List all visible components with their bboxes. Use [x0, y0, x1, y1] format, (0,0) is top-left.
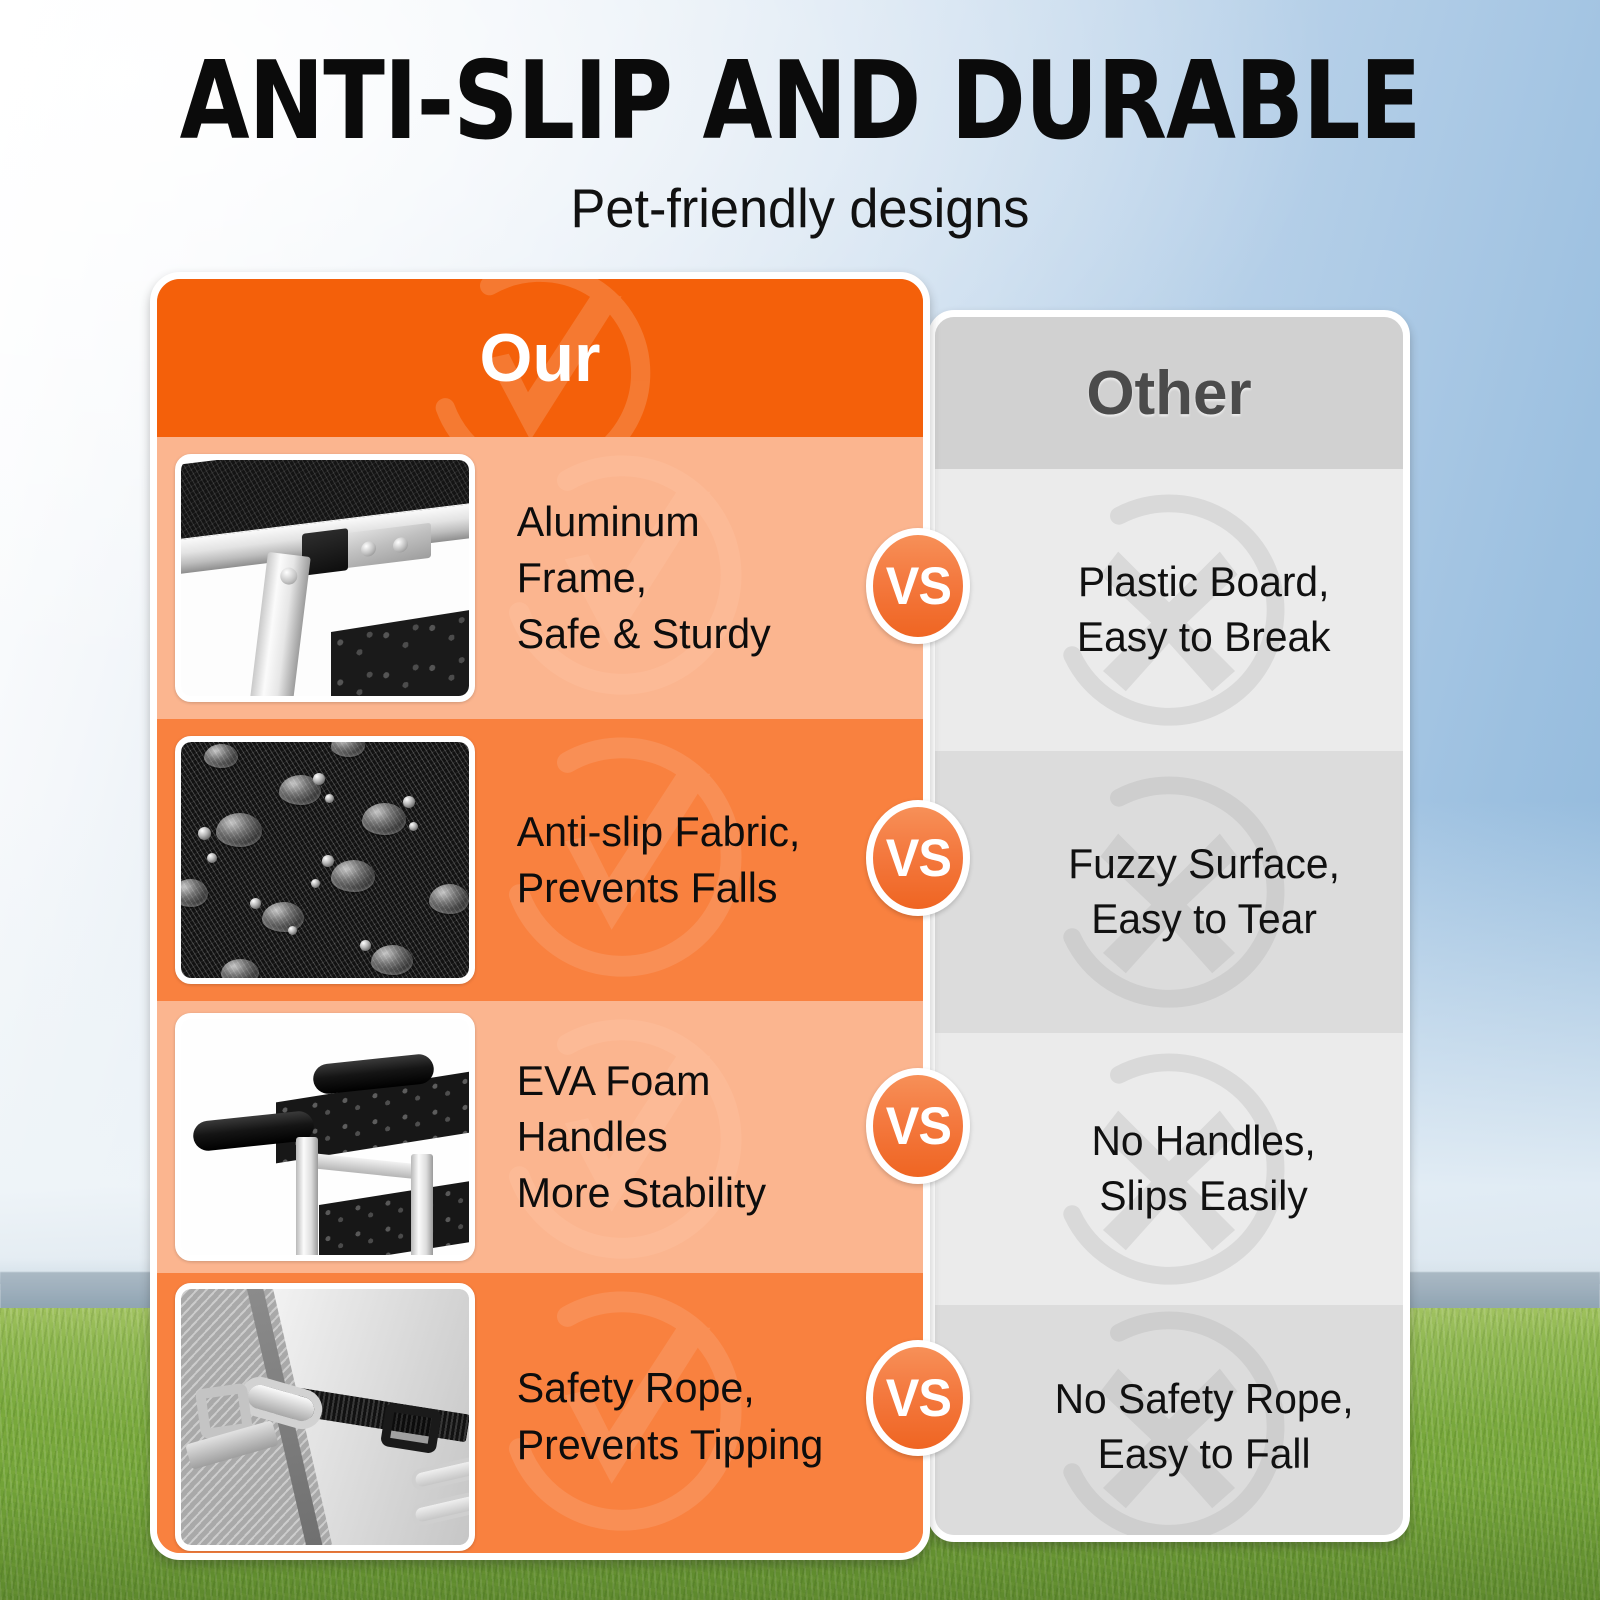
our-row-3-text: EVA Foam Handles More Stability — [479, 1053, 918, 1222]
our-column-panel: Our Aluminum Frame, Safe & Sturdy — [150, 272, 930, 1560]
our-row-1: Aluminum Frame, Safe & Sturdy — [157, 437, 923, 719]
other-column-header: Other — [935, 317, 1403, 469]
vs-badge-label: VS — [885, 1096, 950, 1157]
other-row-3-text: No Handles, Slips Easily — [1092, 1114, 1316, 1223]
our-row-2-image — [175, 736, 475, 984]
vs-badge-label: VS — [885, 556, 950, 617]
other-row-3: No Handles, Slips Easily — [935, 1033, 1403, 1305]
our-row-4: Safety Rope, Prevents Tipping — [157, 1273, 923, 1560]
vs-badge-row-3: VS — [866, 1068, 970, 1184]
our-column-header: Our — [157, 279, 923, 437]
other-row-2: Fuzzy Surface, Easy to Tear — [935, 751, 1403, 1033]
other-row-1: Plastic Board, Easy to Break — [935, 469, 1403, 751]
our-row-3-image — [175, 1013, 475, 1261]
vs-badge-label: VS — [885, 1368, 950, 1429]
other-column-panel: Other Plastic Board, Easy to Break Fuzzy… — [928, 310, 1410, 1542]
page-subtitle: Pet-friendly designs — [40, 176, 1560, 240]
our-column-label: Our — [480, 319, 601, 397]
vs-badge-row-1: VS — [866, 528, 970, 644]
vs-badge-row-2: VS — [866, 800, 970, 916]
our-row-2-text: Anti-slip Fabric, Prevents Falls — [479, 804, 918, 917]
other-row-2-text: Fuzzy Surface, Easy to Tear — [1068, 837, 1340, 946]
our-row-1-text: Aluminum Frame, Safe & Sturdy — [479, 494, 918, 663]
our-row-4-text: Safety Rope, Prevents Tipping — [479, 1360, 918, 1473]
vs-badge-label: VS — [885, 828, 950, 889]
page-title: ANTI-SLIP AND DURABLE — [56, 48, 1544, 156]
infographic-canvas: ANTI-SLIP AND DURABLE Pet-friendly desig… — [0, 0, 1600, 1600]
other-column-label: Other — [1086, 358, 1251, 429]
our-row-4-image — [175, 1283, 475, 1551]
our-column-rows: Aluminum Frame, Safe & Sturdy — [157, 437, 923, 1560]
other-column-rows: Plastic Board, Easy to Break Fuzzy Surfa… — [935, 469, 1403, 1542]
vs-badge-row-4: VS — [866, 1340, 970, 1456]
other-row-1-text: Plastic Board, Easy to Break — [1077, 555, 1331, 664]
our-row-1-image — [175, 454, 475, 702]
our-row-3: EVA Foam Handles More Stability — [157, 1001, 923, 1273]
other-row-4-text: No Safety Rope, Easy to Fall — [1055, 1372, 1354, 1481]
other-row-4: No Safety Rope, Easy to Fall — [935, 1305, 1403, 1542]
our-row-2: Anti-slip Fabric, Prevents Falls — [157, 719, 923, 1001]
